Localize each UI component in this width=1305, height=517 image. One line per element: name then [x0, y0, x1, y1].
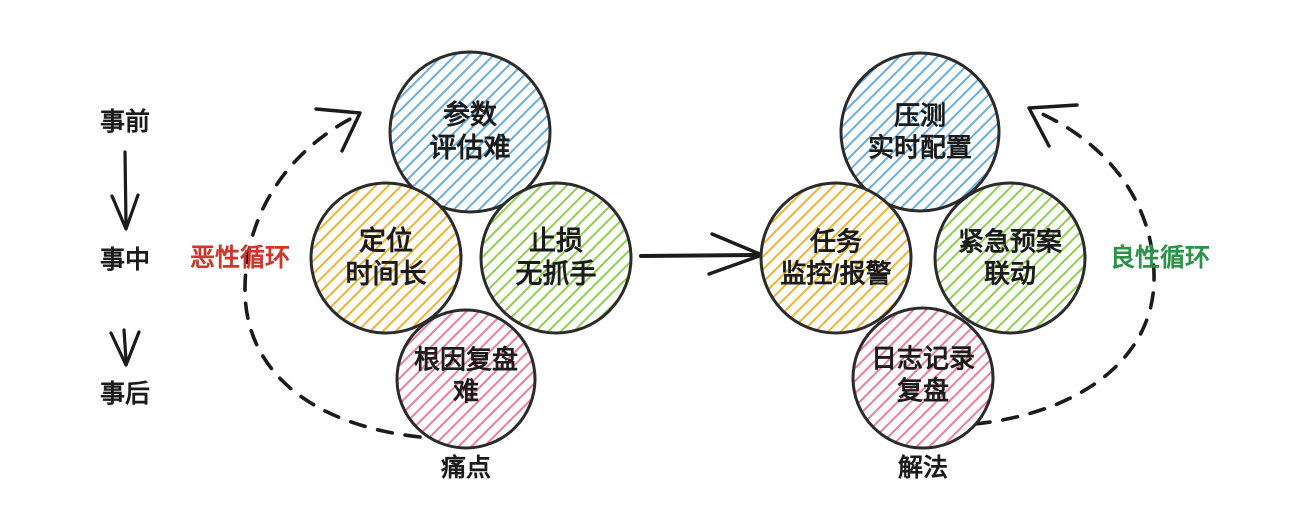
stage-label-before: 事前	[100, 102, 150, 138]
node-stoploss-label[interactable]: 止损 无抓手	[516, 225, 597, 291]
virtuous-cycle-label: 良性循环	[1110, 238, 1210, 274]
stage-label-after: 事后	[100, 374, 150, 410]
stage-label-during: 事中	[100, 240, 150, 276]
diagram-canvas: 事前 事中 事后 恶性循环 良性循环 参数 评估难 定位 时间长 止损 无抓手 …	[0, 0, 1305, 517]
node-stress-test-config-line-2: 实时配置	[868, 132, 972, 164]
vicious-cycle-label: 恶性循环	[190, 238, 290, 274]
node-locate-time-line-2: 时间长	[346, 258, 427, 291]
timeline-arrow-2	[111, 330, 139, 365]
node-emergency-plan-label[interactable]: 紧急预案 联动	[958, 226, 1062, 289]
solutions-caption: 解法	[898, 448, 948, 484]
node-locate-time-label[interactable]: 定位 时间长	[346, 225, 427, 291]
node-root-cause-line-2: 难	[414, 376, 518, 408]
node-log-review-label[interactable]: 日志记录 复盘	[871, 343, 975, 406]
transform-arrow	[641, 234, 762, 274]
node-task-monitor-alarm-line-2: 监控/报警	[780, 258, 891, 290]
node-param-eval-label[interactable]: 参数 评估难	[430, 99, 511, 165]
timeline-arrow-1	[112, 152, 138, 229]
node-param-eval-line-1: 参数	[430, 99, 511, 132]
node-stress-test-config-line-1: 压测	[868, 100, 972, 132]
node-root-cause-label[interactable]: 根因复盘 难	[414, 344, 518, 407]
node-param-eval-line-2: 评估难	[430, 132, 511, 165]
node-stress-test-config-label[interactable]: 压测 实时配置	[868, 100, 972, 163]
node-log-review-line-1: 日志记录	[871, 343, 975, 375]
node-root-cause-line-1: 根因复盘	[414, 344, 518, 376]
node-emergency-plan-line-2: 联动	[958, 258, 1062, 290]
node-task-monitor-alarm-line-1: 任务	[780, 226, 891, 258]
node-log-review-line-2: 复盘	[871, 375, 975, 407]
node-emergency-plan-line-1: 紧急预案	[958, 226, 1062, 258]
node-stoploss-line-1: 止损	[516, 225, 597, 258]
node-task-monitor-alarm-label[interactable]: 任务 监控/报警	[780, 226, 891, 289]
node-stoploss-line-2: 无抓手	[516, 258, 597, 291]
pain-points-caption: 痛点	[441, 448, 491, 484]
node-locate-time-line-1: 定位	[346, 225, 427, 258]
